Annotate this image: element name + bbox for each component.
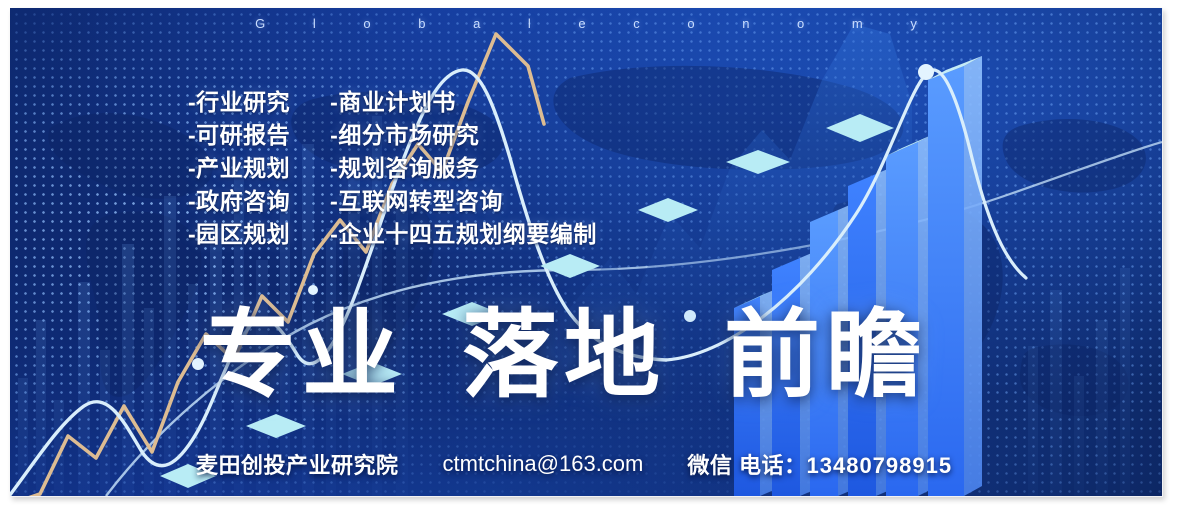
- service-list-right: -商业计划书 -细分市场研究 -规划咨询服务 -互联网转型咨询 -企业十四五规划…: [330, 86, 597, 251]
- headline-slogan: 专业 落地 前瞻: [200, 304, 928, 408]
- service-item: -互联网转型咨询: [330, 185, 597, 218]
- contact-row: 麦田创投产业研究院 ctmtchina@163.com 微信 电话：134807…: [196, 448, 952, 480]
- phone-number: 13480798915: [807, 453, 953, 478]
- service-item: -政府咨询: [188, 185, 290, 218]
- service-item: -企业十四五规划纲要编制: [330, 218, 597, 251]
- global-economy-wordmark: G l o b a l e c o n o m y: [10, 10, 1162, 36]
- phone-label: 微信 电话：: [687, 453, 806, 478]
- headline-word: 落地: [462, 304, 666, 408]
- service-item: -规划咨询服务: [330, 152, 597, 185]
- contact-email[interactable]: ctmtchina@163.com: [443, 451, 644, 477]
- service-item: -可研报告: [188, 119, 290, 152]
- service-item: -细分市场研究: [330, 119, 597, 152]
- service-lists: -行业研究 -可研报告 -产业规划 -政府咨询 -园区规划 -商业计划书 -细分…: [188, 86, 597, 251]
- banner-root: G l o b a l e c o n o m y -行业研究 -可研报告 -产…: [0, 0, 1177, 514]
- banner-artboard: G l o b a l e c o n o m y -行业研究 -可研报告 -产…: [10, 8, 1162, 496]
- service-item: -商业计划书: [330, 86, 597, 119]
- contact-phone: 微信 电话：13480798915: [687, 448, 952, 480]
- service-list-left: -行业研究 -可研报告 -产业规划 -政府咨询 -园区规划: [188, 86, 290, 251]
- service-item: -行业研究: [188, 86, 290, 119]
- headline-word: 前瞻: [724, 304, 928, 408]
- service-item: -产业规划: [188, 152, 290, 185]
- organization-name: 麦田创投产业研究院: [196, 448, 399, 480]
- headline-word: 专业: [200, 304, 404, 408]
- service-item: -园区规划: [188, 218, 290, 251]
- economy-chart: [10, 8, 1162, 496]
